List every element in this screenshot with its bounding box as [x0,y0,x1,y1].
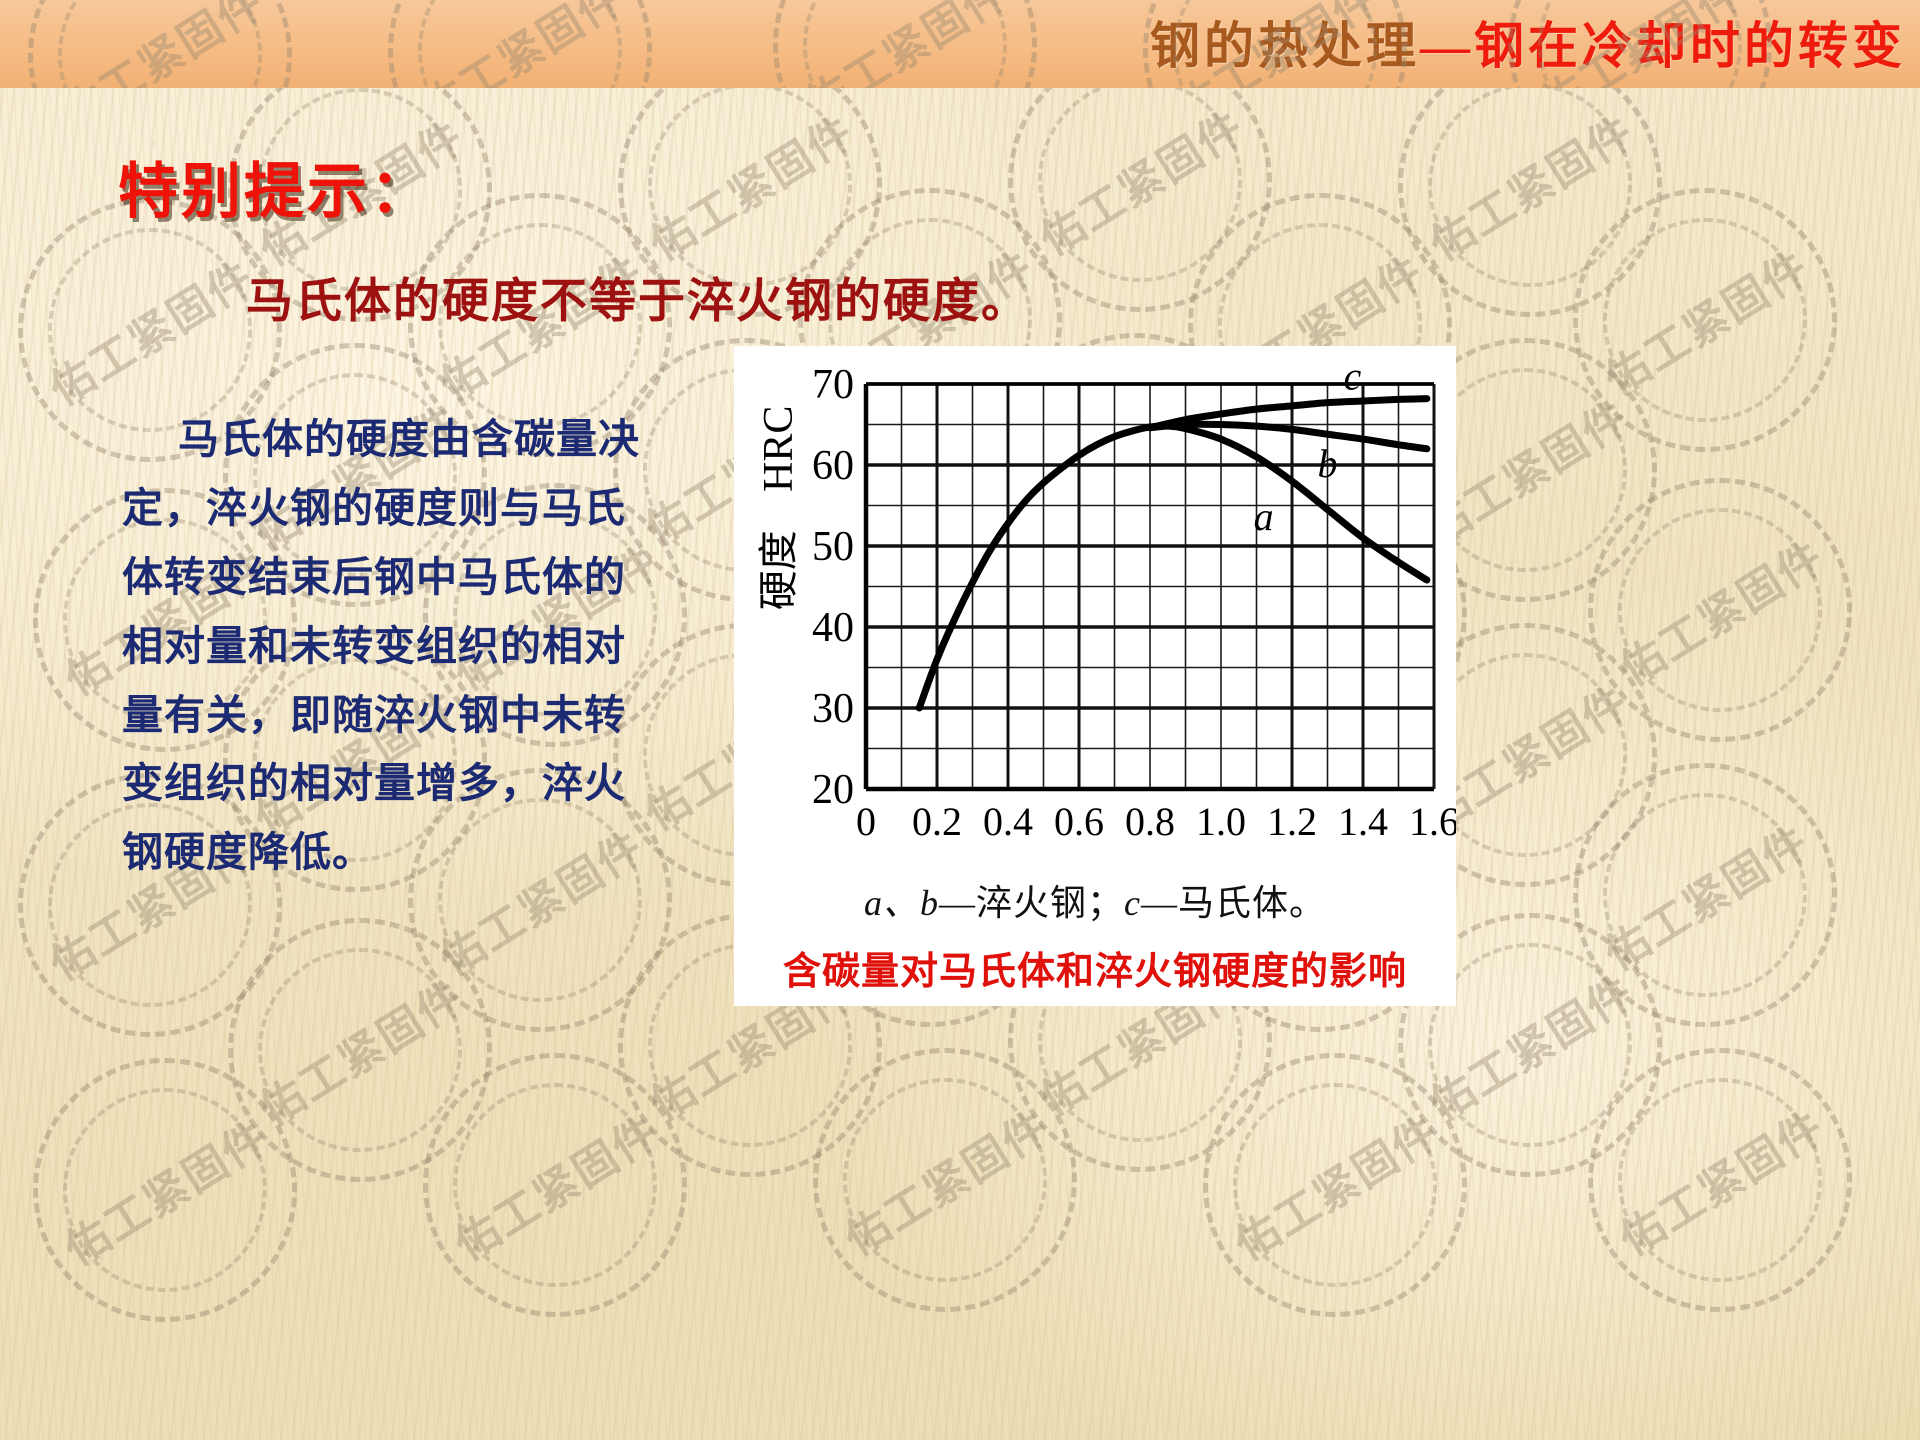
curve-label-b: b [1318,441,1338,486]
curve-a [919,426,1427,708]
legend-label-ab: a、b [864,883,939,923]
x-tick-label: 1.0 [1196,799,1246,844]
legend-text-ab: —淬火钢； [939,883,1124,923]
figure-caption: 含碳量对马氏体和淬火钢硬度的影响 [734,940,1456,995]
x-tick-label: 0.4 [983,799,1033,844]
watermark-stamp: 佑工紧固件 [1125,0,1425,88]
x-tick-label: 1.2 [1267,799,1317,844]
body-paragraph: 马氏体的硬度由含碳量决 定，淬火钢的硬度则与马氏 体转变结束后钢中马氏体的 相对… [122,405,702,887]
curve-annotations: abc [1254,354,1362,539]
watermark-stamp: 佑工紧固件 [10,0,310,88]
x-tick-label: 1.4 [1338,799,1388,844]
y-tick-label: 60 [812,443,854,489]
x-tick-label: 0.2 [912,799,962,844]
y-tick-label: 30 [812,686,854,732]
x-tick-label: 0.8 [1125,799,1175,844]
hardness-vs-carbon-chart: 203040506070 00.20.40.60.81.01.21.41.6 a… [734,354,1456,854]
body-line: 定，淬火钢的硬度则与马氏 [122,474,702,543]
curve-label-c: c [1343,354,1361,399]
watermark-stamp: 佑工紧固件 [370,0,670,88]
curve-label-a: a [1254,494,1274,539]
figure-panel: 203040506070 00.20.40.60.81.01.21.41.6 a… [734,346,1456,1006]
body-line: 量有关，即随淬火钢中未转 [122,681,702,750]
legend-text-c: —马氏体。 [1141,883,1326,923]
slide-subtitle: 马氏体的硬度不等于淬火钢的硬度。 [246,262,1030,331]
y-axis-title-hrc: HRC [756,406,802,492]
y-tick-labels: 203040506070 [812,362,854,813]
watermark-stamp: 佑工紧固件 [1490,0,1790,88]
body-line: 体转变结束后钢中马氏体的 [122,543,702,612]
grid-minor [866,384,1434,789]
x-tick-label: 0 [856,799,876,844]
body-line: 钢硬度降低。 [122,818,702,887]
y-tick-label: 70 [812,362,854,408]
x-tick-labels: 00.20.40.60.81.01.21.41.6 [856,799,1456,844]
x-tick-label: 0.6 [1054,799,1104,844]
body-line: 变组织的相对量增多，淬火 [122,749,702,818]
x-tick-label: 1.6 [1409,799,1456,844]
header-bar: 钢的热处理—钢在冷却时的转变 佑工紧固件佑工紧固件佑工紧固件佑工紧固件佑工紧固件 [0,0,1920,88]
y-axis-title-hardness: 硬度 [756,530,801,610]
y-tick-label: 40 [812,605,854,651]
watermark-stamp: 佑工紧固件 [755,0,1055,88]
y-tick-label: 50 [812,524,854,570]
body-line: 相对量和未转变组织的相对 [122,612,702,681]
y-tick-label: 20 [812,767,854,813]
body-line: 马氏体的硬度由含碳量决 [122,405,702,474]
chart-area: 203040506070 00.20.40.60.81.01.21.41.6 a… [734,354,1456,854]
tip-heading: 特别提示： [118,143,433,230]
figure-legend: a、b—淬火钢；c—马氏体。 [734,874,1456,926]
legend-label-c: c [1124,883,1141,923]
data-curves [919,399,1427,708]
